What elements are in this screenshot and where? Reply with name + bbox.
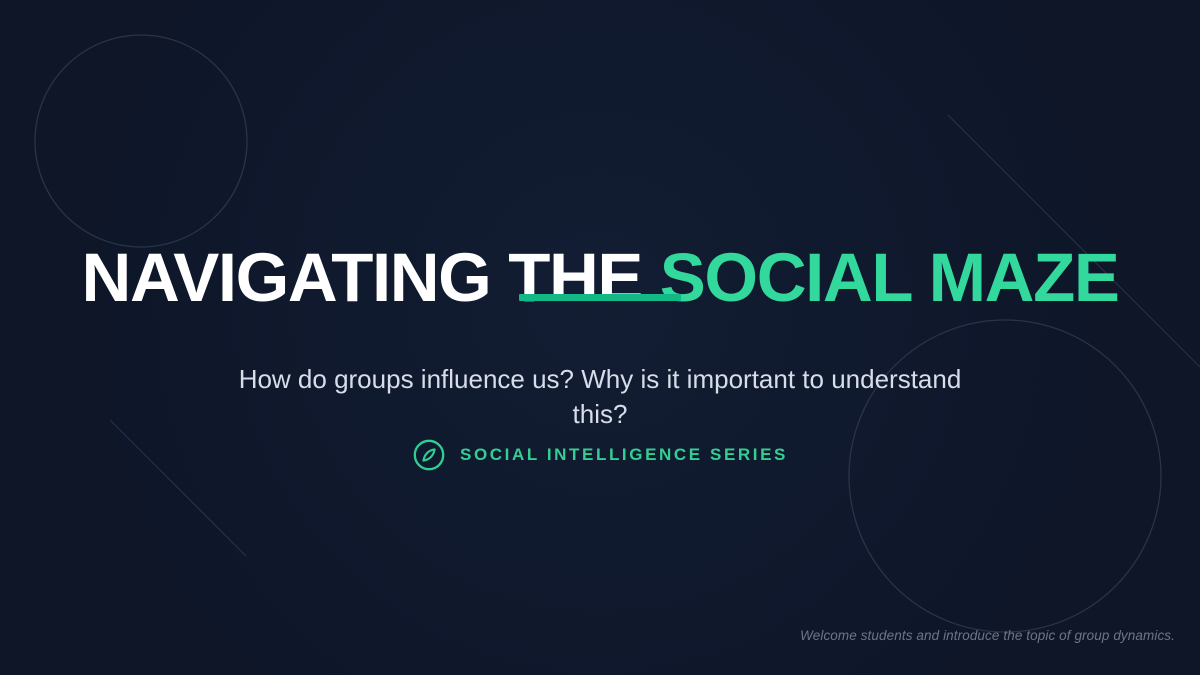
series-badge: SOCIAL INTELLIGENCE SERIES (412, 438, 788, 472)
slide-content: NAVIGATING THE SOCIAL MAZE How do groups… (0, 0, 1200, 675)
slide-subtitle: How do groups influence us? Why is it im… (215, 362, 985, 432)
title-divider (519, 294, 681, 301)
title-slide: NAVIGATING THE SOCIAL MAZE How do groups… (0, 0, 1200, 675)
title-accent: SOCIAL MAZE (660, 239, 1119, 316)
page-title: NAVIGATING THE SOCIAL MAZE (0, 243, 1200, 312)
series-badge-label: SOCIAL INTELLIGENCE SERIES (460, 445, 788, 465)
speaker-note: Welcome students and introduce the topic… (800, 628, 1175, 643)
title-main: NAVIGATING THE (82, 239, 660, 316)
compass-icon (412, 438, 446, 472)
